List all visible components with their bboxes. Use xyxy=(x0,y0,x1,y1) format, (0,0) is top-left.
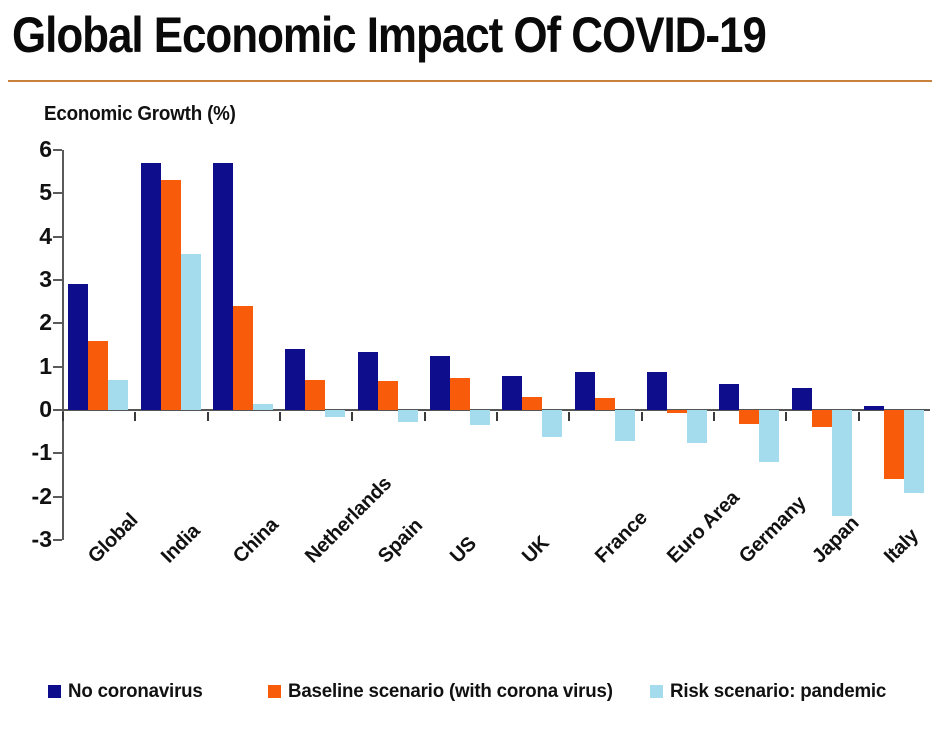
bar xyxy=(502,376,522,410)
legend-item[interactable]: No coronavirus xyxy=(48,680,208,703)
y-axis-tick xyxy=(53,279,62,281)
y-axis-tick xyxy=(53,539,62,541)
legend-item[interactable]: Risk scenario: pandemic xyxy=(650,680,895,703)
y-axis-tick xyxy=(53,366,62,368)
bar xyxy=(213,163,233,410)
x-axis-tick xyxy=(858,412,860,421)
bar xyxy=(470,410,490,425)
bar xyxy=(430,356,450,410)
y-axis-tick xyxy=(53,409,62,411)
bar xyxy=(667,410,687,413)
bar xyxy=(864,406,884,410)
bar xyxy=(253,404,273,411)
x-axis-tick xyxy=(279,412,281,421)
y-axis-tick-label: 4 xyxy=(8,223,52,250)
bar xyxy=(161,180,181,410)
x-axis-tick xyxy=(134,412,136,421)
x-axis-tick xyxy=(641,412,643,421)
bar xyxy=(522,397,542,410)
bar xyxy=(450,378,470,410)
legend-label: Baseline scenario (with corona virus) xyxy=(288,680,613,703)
bar xyxy=(141,163,161,410)
bar xyxy=(542,410,562,437)
legend-swatch-icon xyxy=(650,685,663,698)
y-axis-tick-label: -1 xyxy=(8,439,52,466)
axis-title: Economic Growth (%) xyxy=(44,103,236,126)
y-axis-tick-label: 2 xyxy=(8,309,52,336)
x-axis-tick xyxy=(713,412,715,421)
title-divider xyxy=(8,80,932,82)
bar xyxy=(647,372,667,410)
page-title: Global Economic Impact Of COVID-19 xyxy=(12,6,766,64)
x-axis-tick xyxy=(207,412,209,421)
bar xyxy=(325,410,345,417)
bar xyxy=(739,410,759,424)
chart-header: Global Economic Impact Of COVID-19 xyxy=(0,0,940,84)
bar xyxy=(305,380,325,410)
y-axis-tick xyxy=(53,452,62,454)
bar xyxy=(575,372,595,410)
x-axis-tick xyxy=(424,412,426,421)
bar xyxy=(88,341,108,410)
y-axis-tick xyxy=(53,192,62,194)
legend-label: No coronavirus xyxy=(68,680,203,703)
bar xyxy=(904,410,924,493)
x-axis-tick xyxy=(351,412,353,421)
legend-swatch-icon xyxy=(268,685,281,698)
bar xyxy=(595,398,615,410)
bar xyxy=(398,410,418,422)
bar-chart-plot-area: 6543210-1-2-3 xyxy=(62,150,930,540)
x-axis-tick xyxy=(568,412,570,421)
y-axis-tick-label: 6 xyxy=(8,136,52,163)
legend-item[interactable]: Baseline scenario (with corona virus) xyxy=(268,680,626,703)
bar xyxy=(378,381,398,411)
y-axis-line xyxy=(62,150,64,540)
bar xyxy=(285,349,305,410)
y-axis-tick-label: 5 xyxy=(8,179,52,206)
x-axis-tick xyxy=(62,412,64,421)
y-axis-tick xyxy=(53,496,62,498)
bar xyxy=(792,388,812,410)
bar xyxy=(68,284,88,410)
y-axis-tick-label: 3 xyxy=(8,266,52,293)
y-axis-tick-label: -2 xyxy=(8,483,52,510)
x-axis-labels: GlobalIndiaChinaNetherlandsSpainUSUKFran… xyxy=(0,548,940,658)
bar xyxy=(181,254,201,410)
y-axis-tick xyxy=(53,322,62,324)
legend-label: Risk scenario: pandemic xyxy=(670,680,886,703)
x-axis-tick xyxy=(785,412,787,421)
legend-swatch-icon xyxy=(48,685,61,698)
bar xyxy=(884,410,904,479)
y-axis-labels: 6543210-1-2-3 xyxy=(0,150,52,540)
y-axis-tick-label: 1 xyxy=(8,353,52,380)
y-axis-tick xyxy=(53,236,62,238)
chart-legend: No coronavirusBaseline scenario (with co… xyxy=(0,680,940,714)
bar xyxy=(687,410,707,443)
bar xyxy=(358,352,378,411)
bar xyxy=(812,410,832,427)
bar xyxy=(108,380,128,410)
y-axis-tick xyxy=(53,149,62,151)
x-axis-tick xyxy=(496,412,498,421)
bar xyxy=(832,410,852,516)
y-axis-tick-label: 0 xyxy=(8,396,52,423)
bar xyxy=(615,410,635,441)
bar xyxy=(719,384,739,410)
bar xyxy=(759,410,779,462)
bar xyxy=(233,306,253,410)
